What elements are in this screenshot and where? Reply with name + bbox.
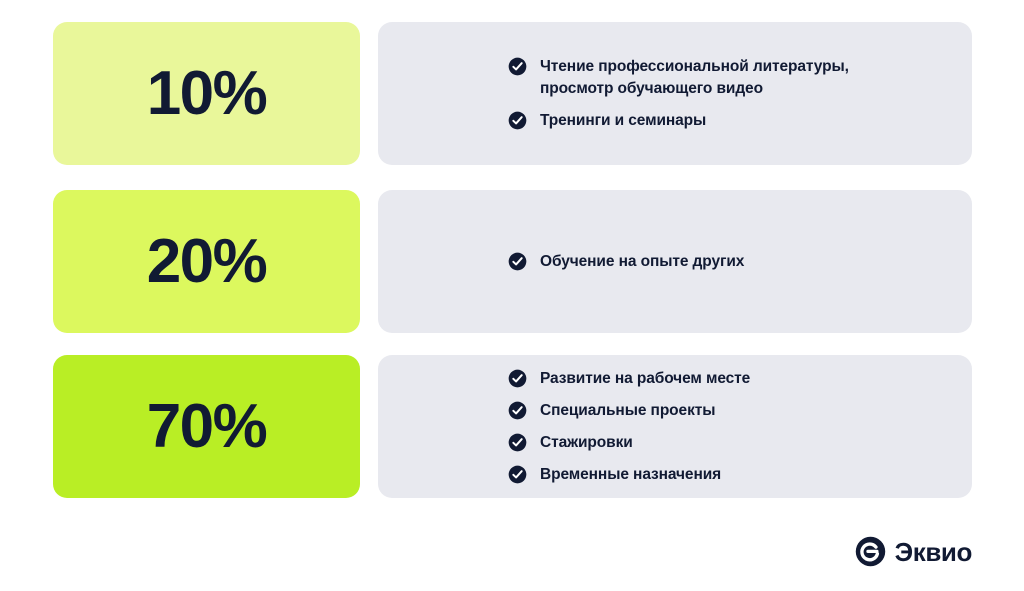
list-item: Тренинги и семинары [508,105,942,137]
list-item-label: Временные назначения [540,464,721,486]
model-row-70: 70% Развитие на рабочем месте Специальны… [53,355,972,498]
list-item-label: Чтение профессиональной литературы, прос… [540,56,849,100]
percent-value: 10% [147,63,267,125]
list-item: Специальные проекты [508,395,942,427]
row-gap [360,355,378,498]
list-item: Временные назначения [508,459,942,491]
list-item: Развитие на рабочем месте [508,363,942,395]
list-item-label: Обучение на опыте других [540,251,744,273]
list-item-label: Развитие на рабочем месте [540,368,750,390]
list-item-label: Специальные проекты [540,400,715,422]
check-circle-icon [508,57,527,76]
check-circle-icon [508,369,527,388]
check-circle-icon [508,111,527,130]
row-gap [360,190,378,333]
list-item-label: Стажировки [540,432,633,454]
percent-card-10: 10% [53,22,360,165]
percent-card-70: 70% [53,355,360,498]
check-circle-icon [508,465,527,484]
list-item: Чтение профессиональной литературы, прос… [508,51,942,105]
percent-value: 70% [147,396,267,458]
infographic-canvas: 10% Чтение профессиональной литературы, … [0,0,1024,591]
activity-list-10: Чтение профессиональной литературы, прос… [378,22,972,165]
ekvio-circle-logo-icon [855,536,886,567]
row-gap [360,22,378,165]
model-row-20: 20% Обучение на опыте других [53,190,972,333]
activity-list-20: Обучение на опыте других [378,190,972,333]
check-circle-icon [508,252,527,271]
brand-logo-text: Эквио [895,539,972,565]
percent-value: 20% [147,231,267,293]
activity-list-70: Развитие на рабочем месте Специальные пр… [378,355,972,498]
check-circle-icon [508,401,527,420]
brand-logo: Эквио [855,536,972,567]
model-row-10: 10% Чтение профессиональной литературы, … [53,22,972,165]
list-item: Стажировки [508,427,942,459]
percent-card-20: 20% [53,190,360,333]
list-item-label: Тренинги и семинары [540,110,706,132]
check-circle-icon [508,433,527,452]
list-item: Обучение на опыте других [508,246,942,278]
